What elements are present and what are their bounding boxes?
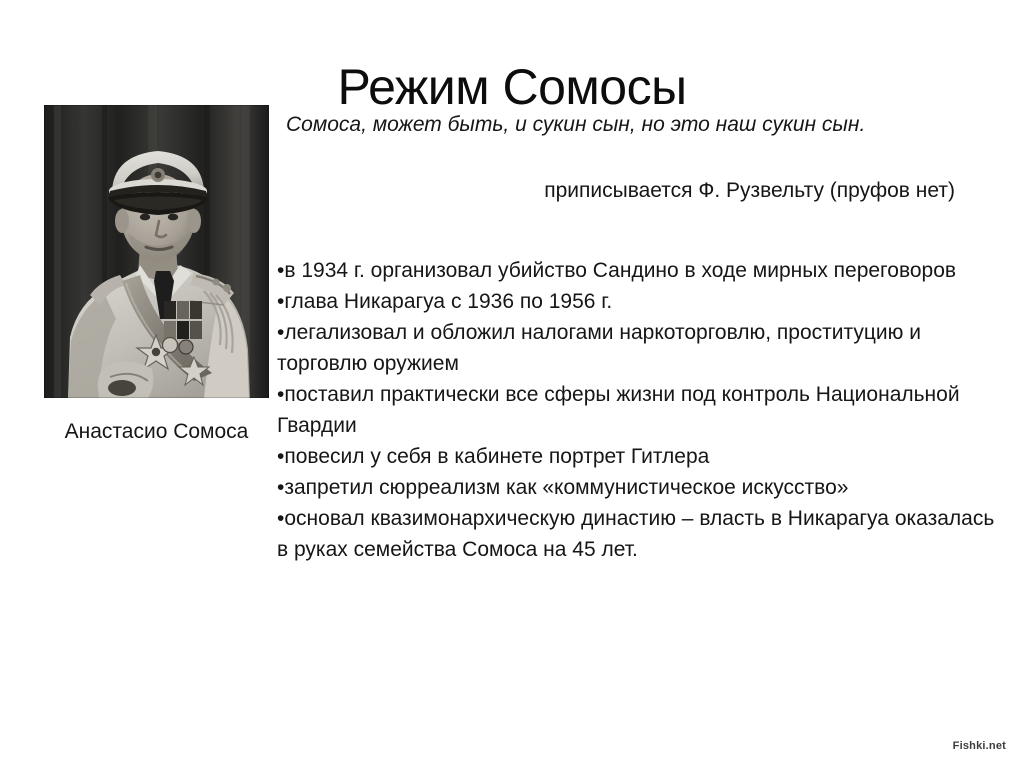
watermark: Fishki.net — [953, 739, 1006, 753]
list-item: легализовал и обложил налогами наркоторг… — [277, 317, 995, 379]
list-item: в 1934 г. организовал убийство Сандино в… — [277, 255, 995, 286]
quote-attribution: приписывается Ф. Рузвельту (пруфов нет) — [286, 176, 955, 205]
list-item: глава Никарагуа с 1936 по 1956 г. — [277, 286, 995, 317]
quote-text: Сомоса, может быть, и сукин сын, но это … — [286, 110, 986, 139]
portrait-caption: Анастасио Сомоса — [44, 419, 269, 445]
bullet-list: в 1934 г. организовал убийство Сандино в… — [277, 255, 995, 565]
list-item: основал квазимонархическую династию – вл… — [277, 503, 995, 565]
list-item: повесил у себя в кабинете портрет Гитлер… — [277, 441, 995, 472]
slide-canvas: Режим Сомосы — [0, 0, 1024, 767]
portrait-photo — [44, 105, 269, 398]
list-item: поставил практически все сферы жизни под… — [277, 379, 995, 441]
list-item: запретил сюрреализм как «коммунистическо… — [277, 472, 995, 503]
portrait-block: Анастасио Сомоса — [44, 105, 269, 445]
